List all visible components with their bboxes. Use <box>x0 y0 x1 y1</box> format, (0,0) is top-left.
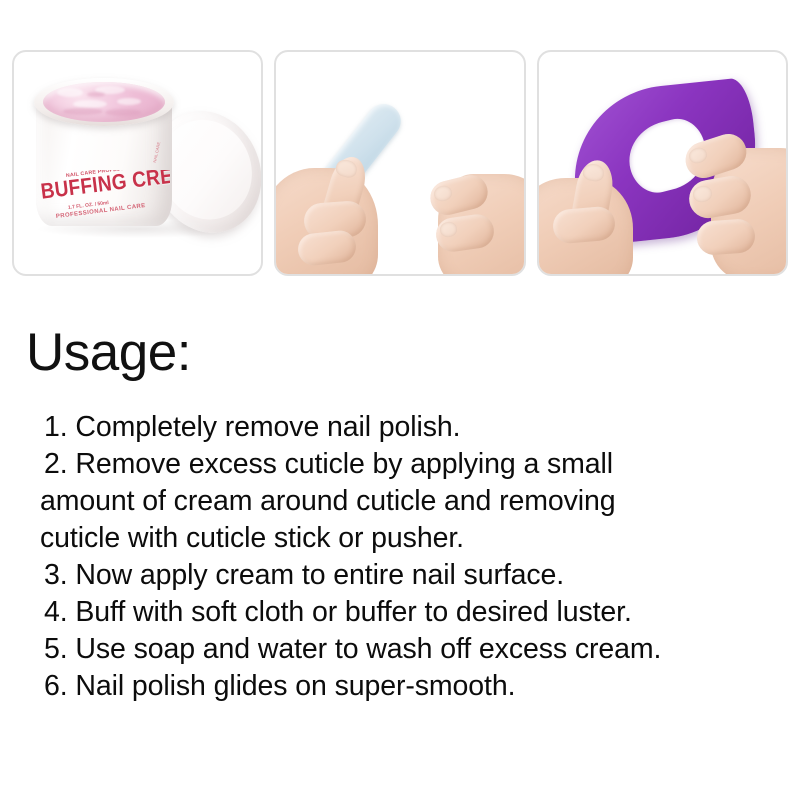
usage-step-3: 3. Now apply cream to entire nail surfac… <box>0 557 800 594</box>
usage-step-1: 1. Completely remove nail polish. <box>0 409 800 446</box>
usage-step-4: 4. Buff with soft cloth or buffer to des… <box>0 594 800 631</box>
cream-jar-illustration: NAIL CARE PROFESSIONAL BUFFING CREAM 1.7… <box>14 52 261 274</box>
usage-heading: Usage: <box>26 326 191 379</box>
usage-step-2: 2. Remove excess cuticle by applying a s… <box>0 446 800 483</box>
right-ring-finger <box>696 218 756 256</box>
usage-steps-list: 1. Completely remove nail polish. 2. Rem… <box>0 409 800 705</box>
photo-panel-nail-buffer <box>537 50 788 276</box>
nail-file-photo <box>276 52 523 274</box>
product-photo-strip: NAIL CARE PROFESSIONAL BUFFING CREAM 1.7… <box>0 0 800 300</box>
usage-step-2-cont-1: amount of cream around cuticle and remov… <box>0 483 800 520</box>
jar-label: NAIL CARE PROFESSIONAL BUFFING CREAM 1.7… <box>38 170 170 226</box>
usage-step-6: 6. Nail polish glides on super-smooth. <box>0 668 800 705</box>
photo-panel-nail-file <box>274 50 525 276</box>
usage-step-5: 5. Use soap and water to wash off excess… <box>0 631 800 668</box>
nail-buffer-photo <box>539 52 786 274</box>
photo-panel-buffing-cream-jar: NAIL CARE PROFESSIONAL BUFFING CREAM 1.7… <box>12 50 263 276</box>
usage-step-2-cont-2: cuticle with cuticle stick or pusher. <box>0 520 800 557</box>
jar-photo: NAIL CARE PROFESSIONAL BUFFING CREAM 1.7… <box>14 52 261 274</box>
pink-cream-surface <box>43 82 165 122</box>
